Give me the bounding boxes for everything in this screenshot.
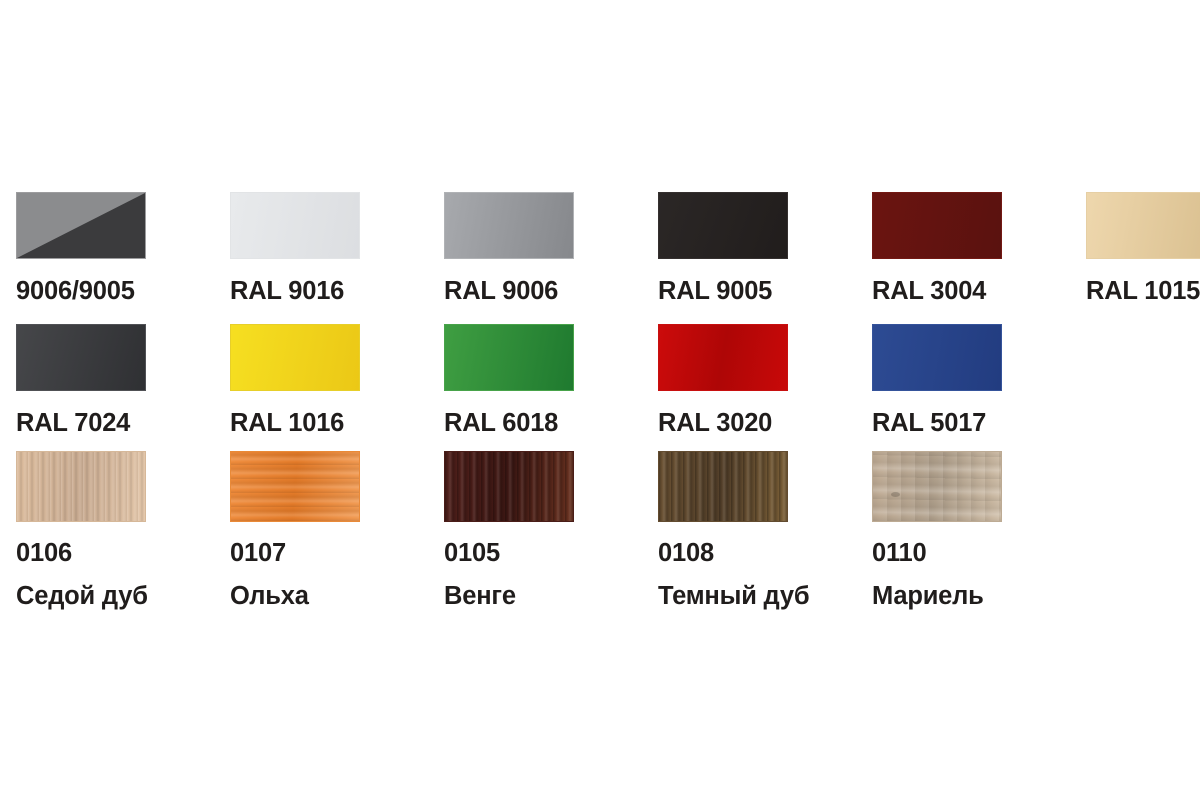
swatch-name: Мариель	[872, 582, 1086, 612]
swatch-cell-ral-3020[interactable]: RAL 3020	[658, 324, 872, 439]
swatch-cell-ral-9016[interactable]: RAL 9016	[230, 192, 444, 307]
wood-grain-overlay	[873, 452, 1001, 521]
swatch-code: RAL 6018	[444, 409, 658, 439]
swatch-cell-ral-3004[interactable]: RAL 3004	[872, 192, 1086, 307]
chip-fill	[659, 193, 787, 258]
chip-fill	[231, 193, 359, 258]
color-chip-ral-3020[interactable]	[658, 324, 788, 391]
color-chip-ral-7024[interactable]	[16, 324, 146, 391]
swatch-code: RAL 5017	[872, 409, 1086, 439]
swatch-cell-ral-6018[interactable]: RAL 6018	[444, 324, 658, 439]
swatch-row: 9006/9005 RAL 9016 RAL 9006 RAL 9005 RAL	[16, 192, 1200, 307]
chip-fill	[445, 193, 573, 258]
swatch-code: 0108	[658, 539, 872, 569]
swatch-name: Венге	[444, 582, 658, 612]
swatch-cell-ral-9006[interactable]: RAL 9006	[444, 192, 658, 307]
swatch-code: RAL 9006	[444, 277, 658, 307]
swatch-code: 0107	[230, 539, 444, 569]
swatch-name: Ольха	[230, 582, 444, 612]
swatch-code: 0110	[872, 539, 1086, 569]
chip-fill	[1087, 193, 1200, 258]
chip-fill	[231, 325, 359, 390]
swatch-name: Темный дуб	[658, 582, 872, 612]
chip-fill	[873, 325, 1001, 390]
swatch-cell-ral-7024[interactable]: RAL 7024	[16, 324, 230, 439]
color-chip-ral-9016[interactable]	[230, 192, 360, 259]
wood-chip-0105[interactable]	[444, 451, 574, 522]
color-chip-ral-5017[interactable]	[872, 324, 1002, 391]
color-chip-ral-1016[interactable]	[230, 324, 360, 391]
swatch-cell-0110[interactable]: 0110 Мариель	[872, 451, 1086, 611]
wood-knot	[891, 492, 900, 497]
chip-fill	[659, 325, 787, 390]
wood-grain-overlay	[445, 452, 573, 521]
wood-chip-0108[interactable]	[658, 451, 788, 522]
swatch-code: 0106	[16, 539, 230, 569]
swatch-cell-ral-1016[interactable]: RAL 1016	[230, 324, 444, 439]
swatch-name: Седой дуб	[16, 582, 230, 612]
swatch-code: 9006/9005	[16, 277, 230, 307]
color-chip-ral-6018[interactable]	[444, 324, 574, 391]
swatch-row: 0106 Седой дуб 0107 Ольха 0105 Венге	[16, 451, 1200, 611]
wood-grain-overlay	[659, 452, 787, 521]
swatch-code: 0105	[444, 539, 658, 569]
swatch-code: RAL 9005	[658, 277, 872, 307]
color-chip-ral-9006[interactable]	[444, 192, 574, 259]
swatch-code: RAL 1016	[230, 409, 444, 439]
swatch-cell-ral-1015[interactable]: RAL 1015	[1086, 192, 1200, 307]
wood-chip-0106[interactable]	[16, 451, 146, 522]
wood-chip-0110[interactable]	[872, 451, 1002, 522]
swatch-cell-0108[interactable]: 0108 Темный дуб	[658, 451, 872, 611]
swatch-code: RAL 3020	[658, 409, 872, 439]
color-chip-ral-3004[interactable]	[872, 192, 1002, 259]
color-chip-ral-9005[interactable]	[658, 192, 788, 259]
swatch-cell-9006-9005[interactable]: 9006/9005	[16, 192, 230, 307]
wood-chip-0107[interactable]	[230, 451, 360, 522]
chip-fill	[445, 325, 573, 390]
swatch-row: RAL 7024 RAL 1016 RAL 6018 RAL 3020 RAL	[16, 324, 1200, 439]
swatch-code: RAL 1015	[1086, 277, 1200, 307]
swatch-cell-ral-5017[interactable]: RAL 5017	[872, 324, 1086, 439]
wood-grain-overlay	[231, 452, 359, 521]
swatch-cell-ral-9005[interactable]: RAL 9005	[658, 192, 872, 307]
swatch-cell-0105[interactable]: 0105 Венге	[444, 451, 658, 611]
swatch-code: RAL 3004	[872, 277, 1086, 307]
swatch-cell-0106[interactable]: 0106 Седой дуб	[16, 451, 230, 611]
wood-grain-overlay	[17, 452, 145, 521]
chip-fill	[17, 325, 145, 390]
swatch-code: RAL 9016	[230, 277, 444, 307]
color-swatch-palette: 9006/9005 RAL 9016 RAL 9006 RAL 9005 RAL	[0, 0, 1200, 800]
color-chip-9006-9005[interactable]	[16, 192, 146, 259]
swatch-cell-0107[interactable]: 0107 Ольха	[230, 451, 444, 611]
color-chip-ral-1015[interactable]	[1086, 192, 1200, 259]
chip-fill	[873, 193, 1001, 258]
swatch-code: RAL 7024	[16, 409, 230, 439]
